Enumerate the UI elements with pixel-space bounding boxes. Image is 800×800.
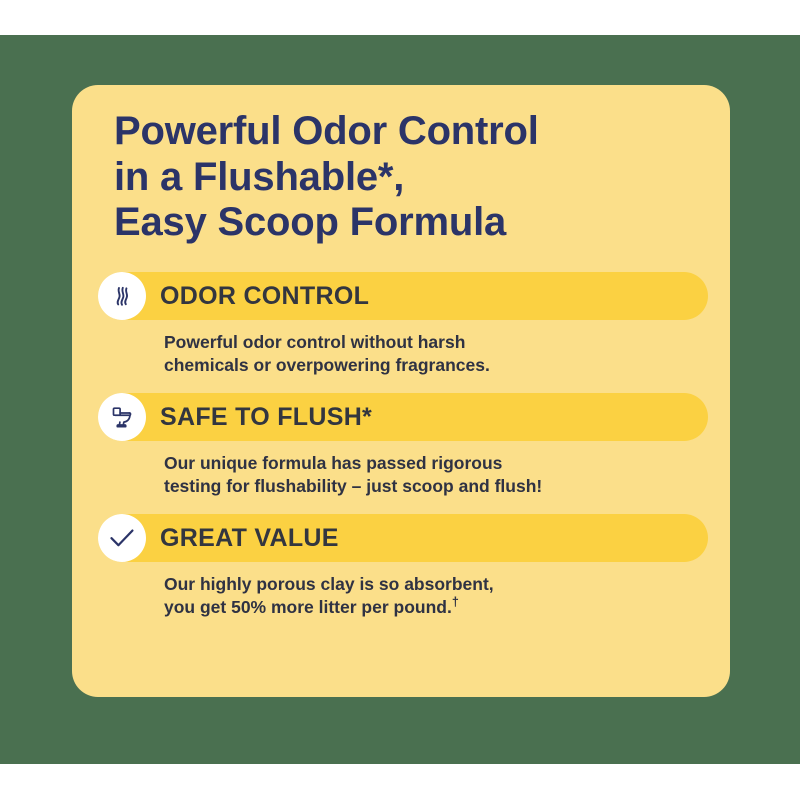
feature-description: Powerful odor control without harsh chem… [164, 331, 684, 377]
feature-description-line-2: you get 50% more litter per pound.† [164, 596, 684, 619]
feature-label: SAFE TO FLUSH* [160, 405, 372, 430]
toilet-icon [98, 393, 146, 441]
feature-label: ODOR CONTROL [160, 284, 369, 309]
footnote-dagger: † [452, 596, 459, 610]
feature-label: GREAT VALUE [160, 526, 339, 551]
feature-description-line-1: Our highly porous clay is so absorbent, [164, 573, 684, 596]
odor-waves-icon [98, 272, 146, 320]
promo-graphic: Powerful Odor Control in a Flushable*, E… [0, 0, 800, 800]
feature-pill-great-value: GREAT VALUE [98, 514, 708, 562]
feature-list: ODOR CONTROL Powerful odor control witho… [72, 272, 730, 636]
headline-line-1: Powerful Odor Control [114, 109, 694, 155]
checkmark-icon [98, 514, 146, 562]
feature-pill-odor-control: ODOR CONTROL [98, 272, 708, 320]
yellow-content-card: Powerful Odor Control in a Flushable*, E… [72, 85, 730, 697]
feature-pill-safe-to-flush: SAFE TO FLUSH* [98, 393, 708, 441]
feature-description-line-1: Our unique formula has passed rigorous [164, 452, 684, 475]
feature-item-safe-to-flush: SAFE TO FLUSH* Our unique formula has pa… [72, 393, 730, 498]
feature-description-line-1: Powerful odor control without harsh [164, 331, 684, 354]
feature-description-line-2: chemicals or overpowering fragrances. [164, 354, 684, 377]
feature-description-line-2: testing for flushability – just scoop an… [164, 475, 684, 498]
headline-line-2: in a Flushable*, [114, 155, 694, 201]
page-title: Powerful Odor Control in a Flushable*, E… [114, 109, 694, 246]
feature-description-line-2-text: you get 50% more litter per pound. [164, 597, 452, 617]
headline-line-3: Easy Scoop Formula [114, 200, 694, 246]
feature-description: Our unique formula has passed rigorous t… [164, 452, 684, 498]
feature-item-odor-control: ODOR CONTROL Powerful odor control witho… [72, 272, 730, 377]
feature-description: Our highly porous clay is so absorbent, … [164, 573, 684, 619]
feature-item-great-value: GREAT VALUE Our highly porous clay is so… [72, 514, 730, 619]
